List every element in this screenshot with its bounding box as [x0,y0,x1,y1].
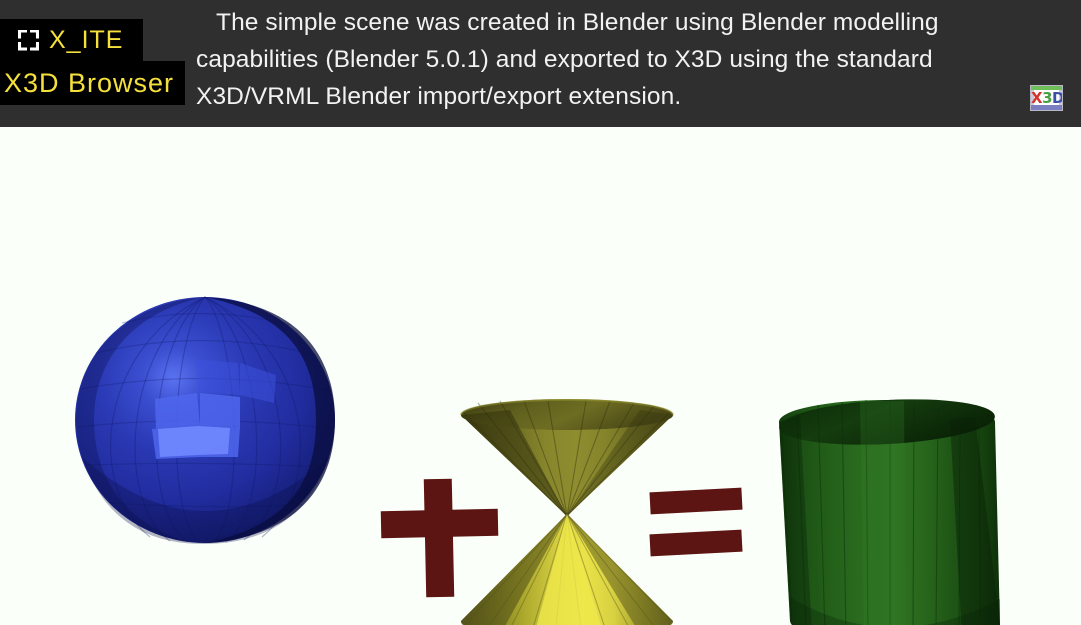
x3d-logo-badge: X3D [1030,85,1063,111]
x3d-browser-viewport: X_ITE X3D Browser The simple scene was c… [0,0,1081,625]
brand-row-bottom: X3D Browser [0,61,185,105]
blue-sphere[interactable] [75,297,335,544]
equals-operator [649,488,742,557]
x3d-scene-canvas[interactable] [0,127,1081,625]
header-overlay-bar: X_ITE X3D Browser The simple scene was c… [0,0,1081,127]
badge-bottom-stripe [1031,105,1062,110]
brand-subtitle: X3D Browser [4,70,174,97]
double-cone-top [461,399,673,516]
plus-operator [381,479,499,598]
scene-render [0,127,1081,625]
brand-name: X_ITE [49,28,123,53]
four-arrows-expand-icon [18,30,39,51]
brand-row-top: X_ITE [0,19,143,61]
green-cylinder[interactable] [778,394,1000,625]
scene-description-text: The simple scene was created in Blender … [196,4,1062,115]
